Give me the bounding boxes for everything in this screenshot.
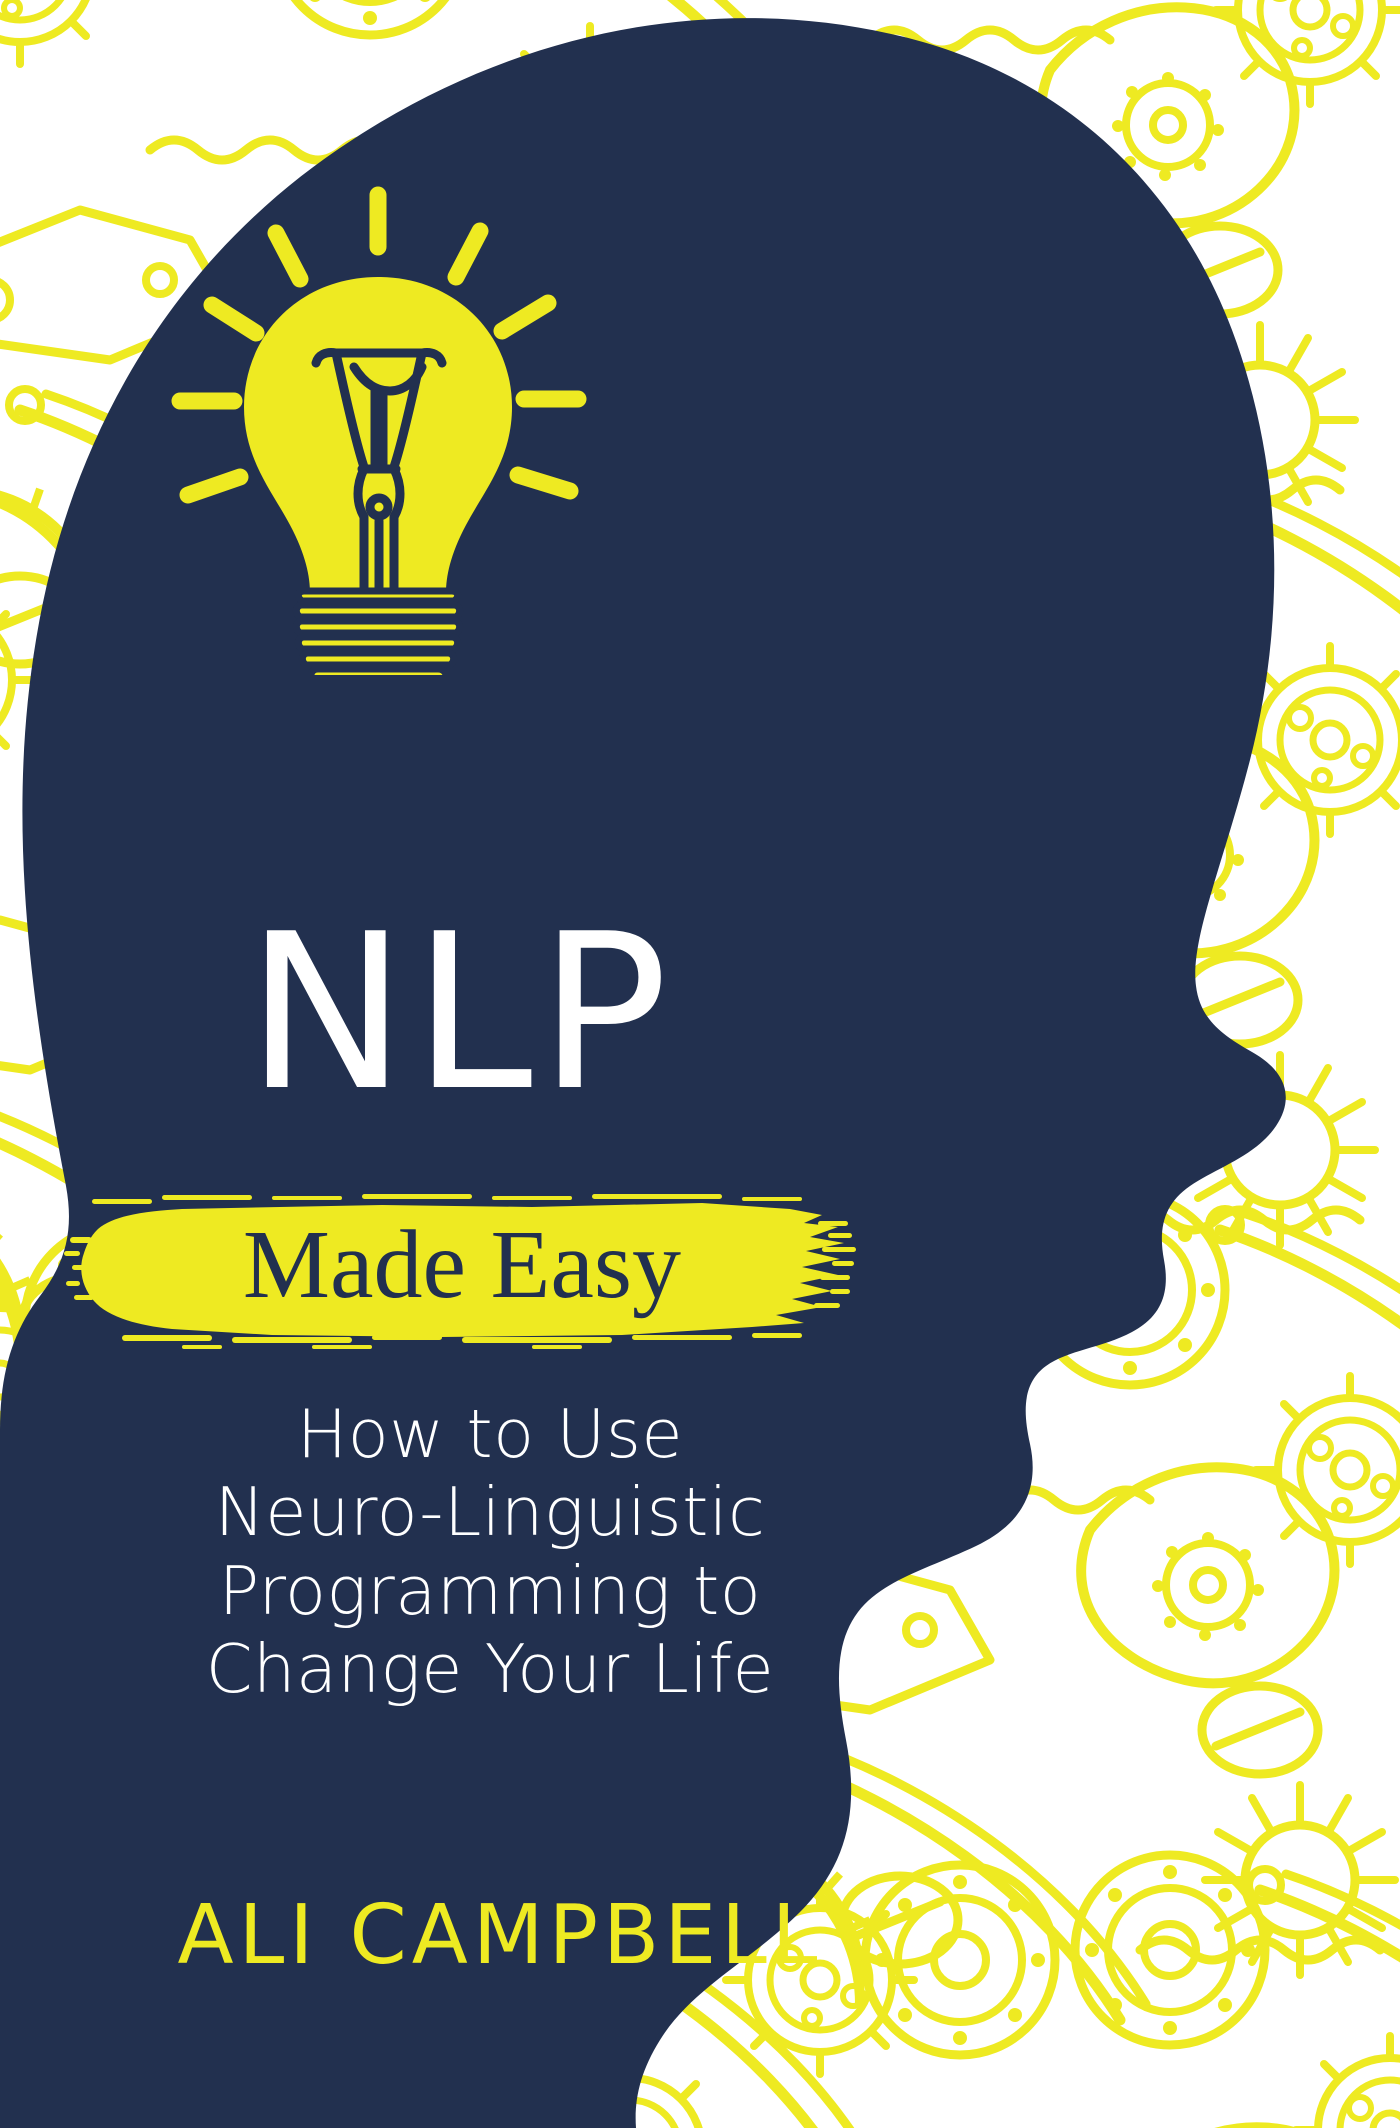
title-banner: Made Easy (62, 1185, 862, 1350)
subtitle-line-1: How to Use (60, 1395, 920, 1473)
author-name: ALI CAMPBELL (60, 1895, 940, 1977)
book-title: NLP (0, 905, 920, 1120)
subtitle-line-4: Change Your Life (60, 1630, 920, 1708)
bulb-screw-base (296, 591, 459, 675)
book-cover: NLP (0, 0, 1400, 2128)
lightbulb-icon (150, 185, 620, 675)
subtitle-line-3: Programming to (60, 1552, 920, 1630)
book-subtitle-banner: Made Easy (62, 1185, 862, 1350)
subtitle-line-2: Neuro-Linguistic (60, 1473, 920, 1551)
book-subtitle: How to Use Neuro-Linguistic Programming … (60, 1395, 920, 1709)
